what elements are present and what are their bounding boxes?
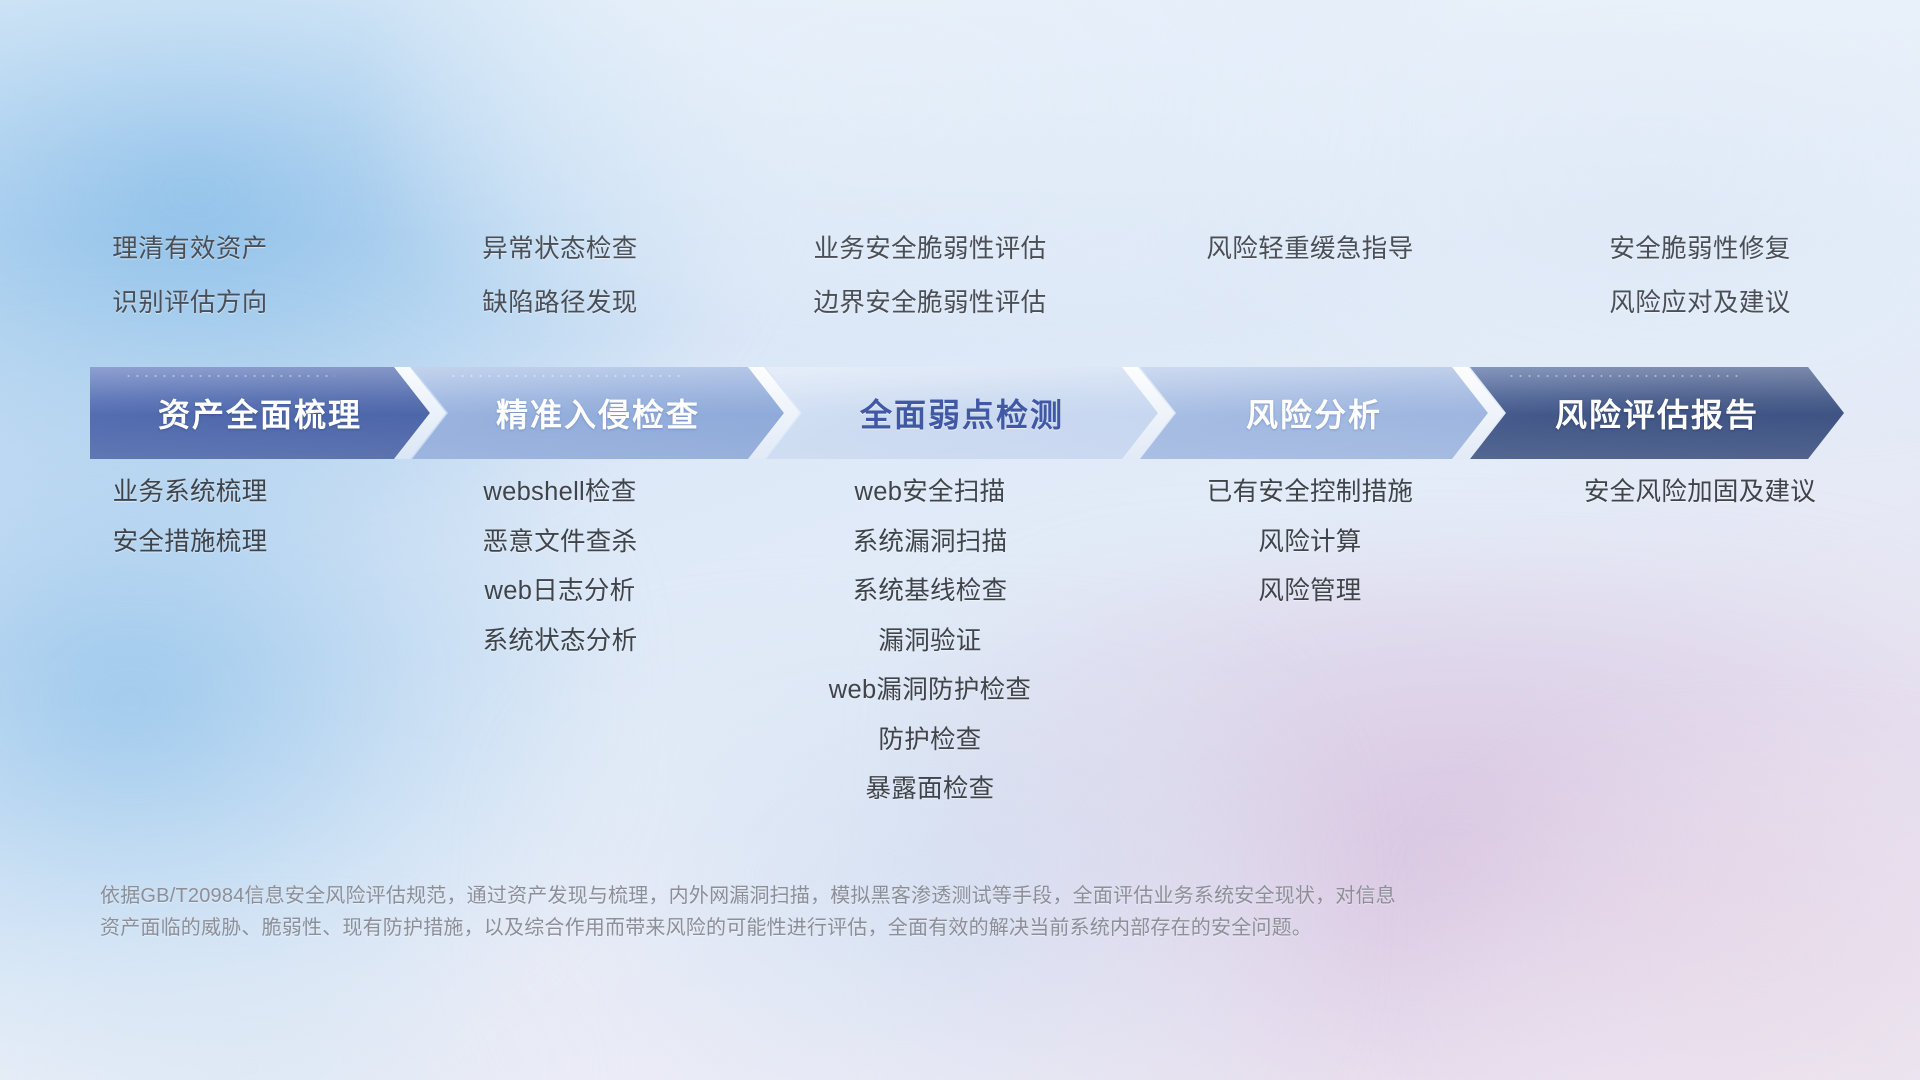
list-item: 安全风险加固及建议 [1500,480,1900,506]
top-labels-stage-4: 风险轻重缓急指导 [1120,237,1500,316]
top-label: 理清有效资产 [0,237,380,263]
stage-detail-lists-row: 业务系统梳理 安全措施梳理 webshell检查 恶意文件查杀 web日志分析 … [0,480,1920,803]
detail-list-stage-4: 已有安全控制措施 风险计算 风险管理 [1120,480,1500,803]
detail-list-stage-2: webshell检查 恶意文件查杀 web日志分析 系统状态分析 [380,480,740,803]
chevron-stage-2[interactable]: 精准入侵检查 [412,367,784,459]
chevron-stage-1-title: 资产全面梳理 [158,390,362,436]
list-item: 系统状态分析 [380,629,740,655]
footer-line: 资产面临的威胁、脆弱性、现有防护措施，以及综合作用而带来风险的可能性进行评估，全… [100,912,1660,944]
list-item: 业务系统梳理 [0,480,380,506]
stage-top-labels-row: 理清有效资产 识别评估方向 异常状态检查 缺陷路径发现 业务安全脆弱性评估 边界… [0,237,1920,316]
list-item: 系统漏洞扫描 [740,530,1120,556]
top-labels-stage-1: 理清有效资产 识别评估方向 [0,237,380,316]
list-item: webshell检查 [380,480,740,506]
footer-description: 依据GB/T20984信息安全风险评估规范，通过资产发现与梳理，内外网漏洞扫描，… [100,880,1660,945]
detail-list-stage-1: 业务系统梳理 安全措施梳理 [0,480,380,803]
process-chevron-bar: 资产全面梳理 精准入侵检查 全面弱点检测 风险分析 风险评估报告 [90,367,1844,459]
top-label: 业务安全脆弱性评估 [740,237,1120,263]
top-labels-stage-5: 安全脆弱性修复 风险应对及建议 [1500,237,1900,316]
top-label: 安全脆弱性修复 [1500,237,1900,263]
footer-line: 依据GB/T20984信息安全风险评估规范，通过资产发现与梳理，内外网漏洞扫描，… [100,880,1660,912]
chevron-stage-4-title: 风险分析 [1246,390,1382,436]
list-item: 系统基线检查 [740,579,1120,605]
chevron-stage-2-title: 精准入侵检查 [496,390,700,436]
detail-list-stage-5: 安全风险加固及建议 [1500,480,1900,803]
chevron-stage-4[interactable]: 风险分析 [1140,367,1488,459]
list-item: 防护检查 [740,728,1120,754]
top-label: 异常状态检查 [380,237,740,263]
dotted-accent [1507,374,1739,378]
list-item: 风险管理 [1120,579,1500,605]
list-item: 恶意文件查杀 [380,530,740,556]
dotted-accent [449,374,680,378]
top-label: 识别评估方向 [0,291,380,317]
chevron-stage-5[interactable]: 风险评估报告 [1470,367,1844,459]
list-item: 暴露面检查 [740,777,1120,803]
top-label: 缺陷路径发现 [380,291,740,317]
chevron-stage-1[interactable]: 资产全面梳理 [90,367,430,459]
top-labels-stage-2: 异常状态检查 缺陷路径发现 [380,237,740,316]
top-label: 风险轻重缓急指导 [1120,237,1500,263]
list-item: 漏洞验证 [740,629,1120,655]
top-label: 风险应对及建议 [1500,291,1900,317]
chevron-stage-3[interactable]: 全面弱点检测 [766,367,1158,459]
list-item: 安全措施梳理 [0,530,380,556]
top-label: 边界安全脆弱性评估 [740,291,1120,317]
detail-list-stage-3: web安全扫描 系统漏洞扫描 系统基线检查 漏洞验证 web漏洞防护检查 防护检… [740,480,1120,803]
list-item: web日志分析 [380,579,740,605]
list-item: 已有安全控制措施 [1120,480,1500,506]
chevron-stage-5-title: 风险评估报告 [1555,390,1759,436]
list-item: web安全扫描 [740,480,1120,506]
chevron-stage-3-title: 全面弱点检测 [860,390,1064,436]
list-item: web漏洞防护检查 [740,678,1120,704]
list-item: 风险计算 [1120,530,1500,556]
top-labels-stage-3: 业务安全脆弱性评估 边界安全脆弱性评估 [740,237,1120,316]
dotted-accent [124,374,335,378]
